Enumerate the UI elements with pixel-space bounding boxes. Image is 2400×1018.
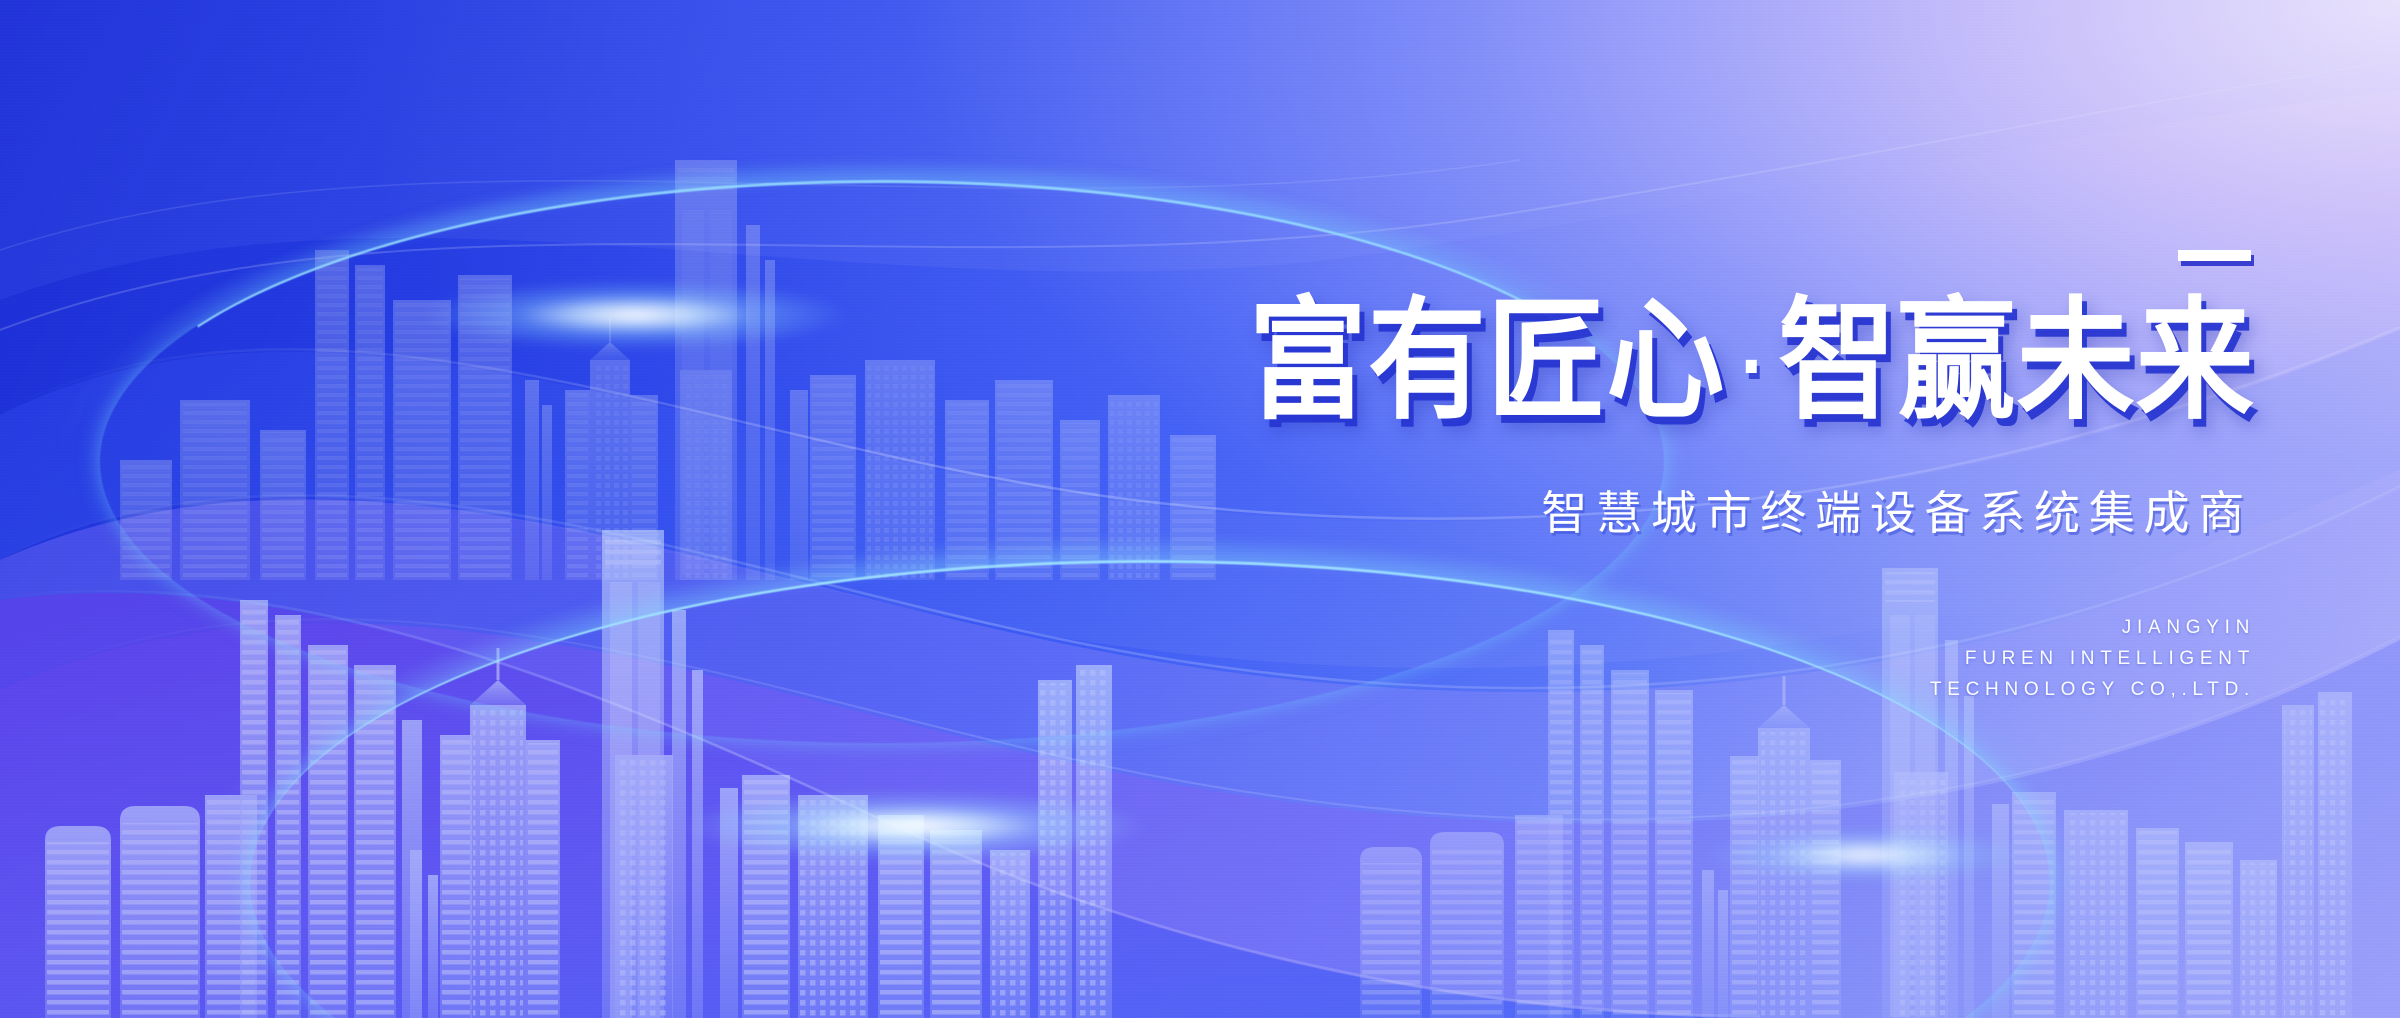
banner-root: 富有匠心·智赢未来 智慧城市终端设备系统集成商 JIANGYIN FUREN I… (0, 0, 2400, 1018)
accent-dash-icon (2178, 250, 2251, 261)
company-name-line-2: FUREN INTELLIGENT (1015, 644, 2255, 675)
company-name-block: JIANGYIN FUREN INTELLIGENT TECHNOLOGY CO… (1015, 613, 2255, 705)
company-name-line-1: JIANGYIN (1015, 613, 2255, 644)
headline-separator: · (1726, 326, 1779, 408)
headline-part-1: 富有匠心 (1249, 283, 1726, 438)
company-name-line-3: TECHNOLOGY CO,.LTD. (1015, 675, 2255, 706)
headline-block: 富有匠心·智赢未来 智慧城市终端设备系统集成商 JIANGYIN FUREN I… (1015, 250, 2255, 705)
page-subtitle: 智慧城市终端设备系统集成商 (1015, 477, 2255, 543)
headline-part-2: 智赢未来 (1778, 283, 2255, 438)
page-title: 富有匠心·智赢未来 (1015, 291, 2255, 431)
